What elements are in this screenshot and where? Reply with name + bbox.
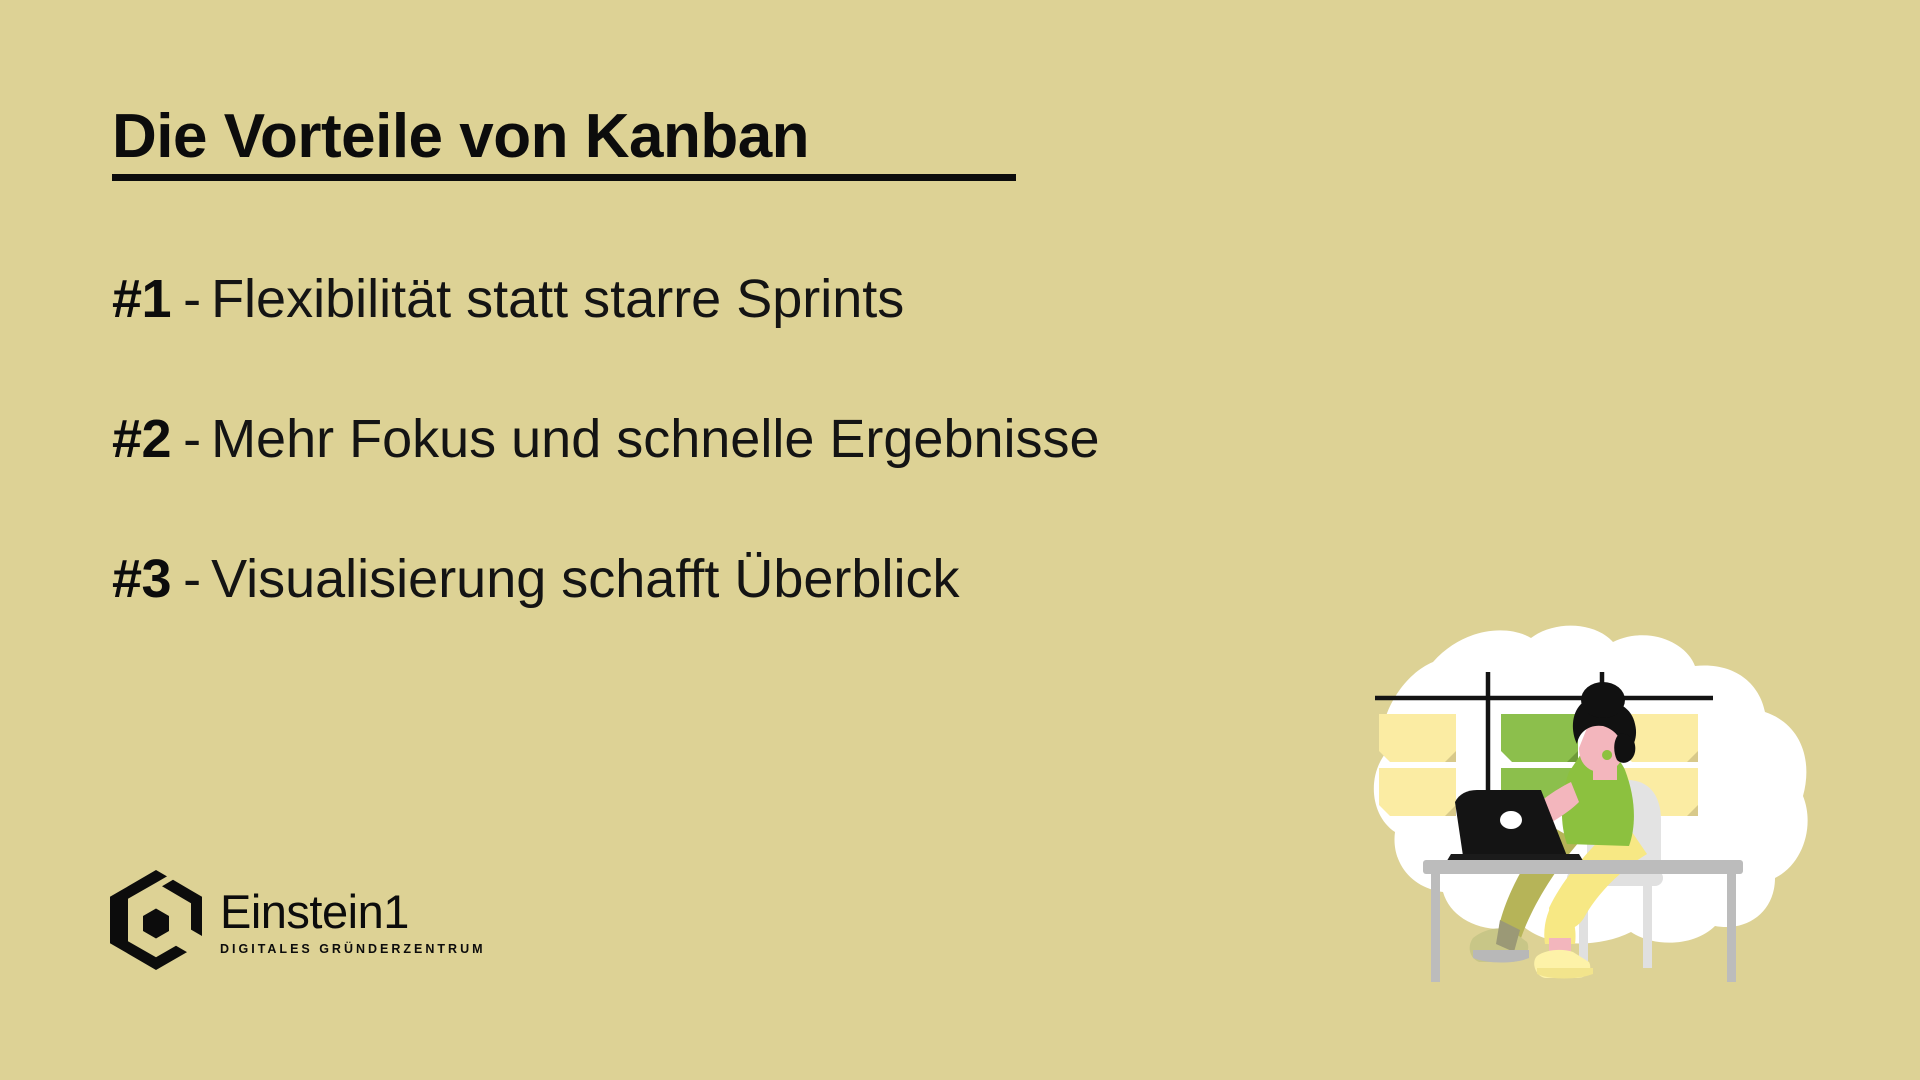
benefit-separator: - bbox=[171, 268, 211, 330]
sticky-note bbox=[1501, 714, 1578, 762]
benefit-separator: - bbox=[171, 548, 211, 610]
benefit-rank: #2 bbox=[112, 408, 171, 470]
sticky-note bbox=[1379, 768, 1456, 816]
woman-at-desk-with-kanban-board-illustration bbox=[1355, 620, 1815, 985]
page-title: Die Vorteile von Kanban bbox=[112, 104, 809, 169]
benefit-separator: - bbox=[171, 408, 211, 470]
logo-tagline: DIGITALES GRÜNDERZENTRUM bbox=[220, 943, 486, 956]
list-item: #1 - Flexibilität statt starre Sprints bbox=[112, 268, 1612, 408]
title-underline bbox=[112, 174, 1016, 181]
hexagon-logo-icon bbox=[110, 870, 202, 970]
slide-canvas: Die Vorteile von Kanban #1 - Flexibilitä… bbox=[0, 0, 1920, 1080]
logo-wordmark: Einstein1 DIGITALES GRÜNDERZENTRUM bbox=[220, 884, 486, 956]
brand-logo: Einstein1 DIGITALES GRÜNDERZENTRUM bbox=[110, 870, 486, 970]
benefit-rank: #3 bbox=[112, 548, 171, 610]
logo-name: Einstein1 bbox=[220, 888, 486, 935]
benefit-text: Mehr Fokus und schnelle Ergebnisse bbox=[211, 408, 1099, 470]
sticky-note bbox=[1379, 714, 1456, 762]
list-item: #2 - Mehr Fokus und schnelle Ergebnisse bbox=[112, 408, 1612, 548]
benefit-text: Flexibilität statt starre Sprints bbox=[211, 268, 904, 330]
benefit-text: Visualisierung schafft Überblick bbox=[211, 548, 959, 610]
benefit-rank: #1 bbox=[112, 268, 171, 330]
